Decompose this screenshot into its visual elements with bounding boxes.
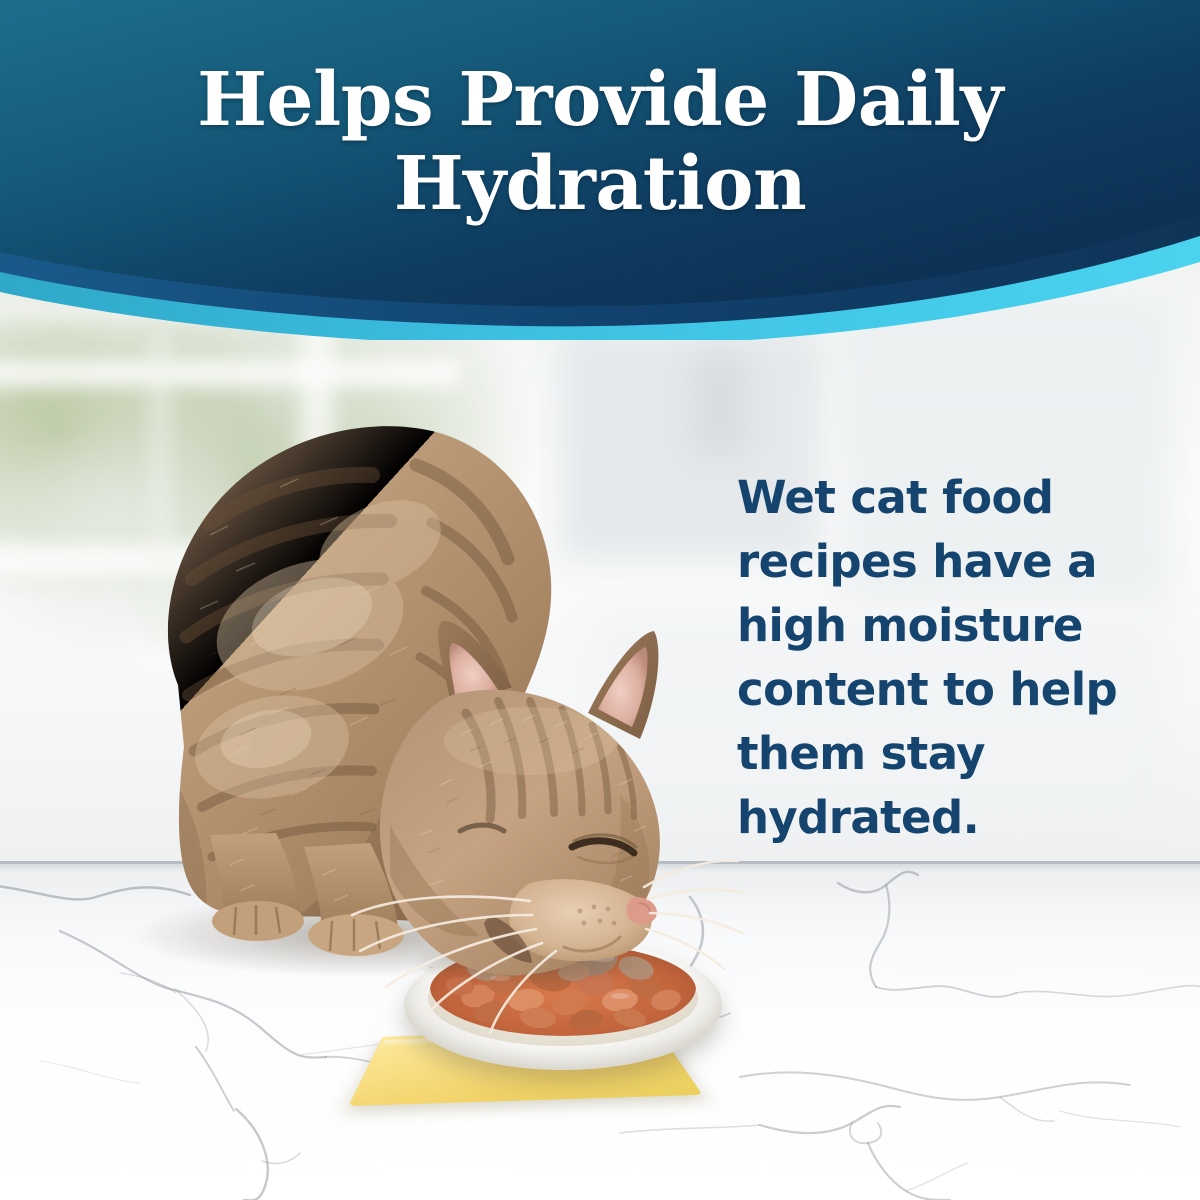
page-title: Helps Provide Daily Hydration — [0, 58, 1200, 226]
window-frame-bar — [0, 360, 460, 386]
cat-illustration — [60, 395, 760, 1055]
body-paragraph: Wet cat food recipes have a high moistur… — [737, 466, 1137, 850]
marketing-graphic: Helps Provide Daily Hydration Wet cat fo… — [0, 0, 1200, 1200]
header-banner: Helps Provide Daily Hydration — [0, 0, 1200, 340]
cat-nose — [626, 897, 656, 925]
